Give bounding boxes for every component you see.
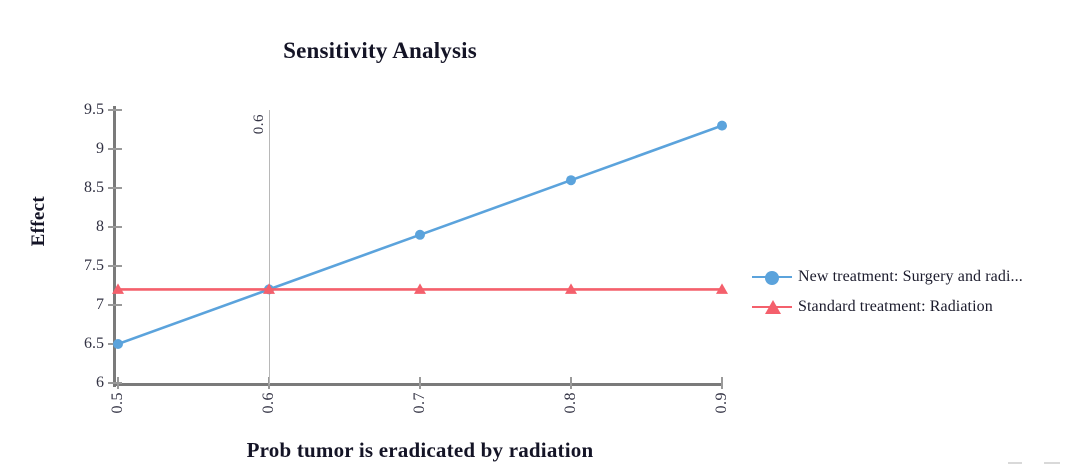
series-plot	[0, 0, 1080, 470]
x-tick-label: 0.5	[109, 392, 127, 414]
bottom-edge-artifact-right	[1044, 462, 1060, 464]
y-tick-label: 7	[64, 297, 104, 313]
y-tick-label: 8	[64, 219, 104, 235]
y-tick-mark	[108, 148, 122, 150]
x-axis-title: Prob tumor is eradicated by radiation	[118, 438, 722, 463]
chart-legend: New treatment: Surgery and radi... Stand…	[752, 262, 1072, 322]
x-tick-mark	[419, 377, 421, 389]
y-tick-label: 6.5	[64, 336, 104, 352]
x-tick-label: 0.9	[713, 392, 731, 414]
chart-title: Sensitivity Analysis	[0, 38, 760, 64]
series-standard-treatment	[112, 283, 728, 294]
data-point-circle	[717, 121, 727, 131]
data-point-circle	[566, 175, 576, 185]
legend-marker-triangle-icon	[752, 297, 792, 317]
y-tick-label: 7.5	[64, 258, 104, 274]
y-tick-label: 6	[64, 375, 104, 391]
series-new-treatment	[113, 121, 727, 349]
y-tick-mark	[108, 226, 122, 228]
y-axis-title: Effect	[28, 196, 50, 246]
legend-item-standard-treatment[interactable]: Standard treatment: Radiation	[752, 292, 1072, 322]
legend-label-new-treatment: New treatment: Surgery and radi...	[792, 268, 1023, 286]
x-tick-mark	[721, 377, 723, 389]
sensitivity-analysis-chart: Sensitivity Analysis 66.577.588.599.5 0.…	[0, 0, 1080, 470]
x-tick-label: 0.8	[562, 392, 580, 414]
x-tick-label: 0.7	[411, 392, 429, 414]
y-tick-mark	[108, 265, 122, 267]
y-tick-mark	[108, 382, 122, 384]
y-tick-mark	[108, 109, 122, 111]
data-point-circle	[415, 230, 425, 240]
data-point-triangle	[565, 283, 577, 294]
x-tick-label: 0.6	[260, 392, 278, 414]
reference-line	[269, 110, 270, 384]
y-tick-mark	[108, 343, 122, 345]
reference-line-label: 0.6	[251, 114, 268, 134]
y-tick-mark	[108, 187, 122, 189]
legend-item-new-treatment[interactable]: New treatment: Surgery and radi...	[752, 262, 1072, 292]
bottom-edge-artifact-left	[1008, 462, 1022, 464]
x-tick-mark	[117, 377, 119, 389]
y-tick-mark	[108, 304, 122, 306]
x-tick-mark	[570, 377, 572, 389]
data-point-triangle	[414, 283, 426, 294]
data-point-triangle	[716, 283, 728, 294]
y-tick-label: 8.5	[64, 180, 104, 196]
series-line	[118, 126, 722, 344]
y-tick-label: 9	[64, 141, 104, 157]
legend-marker-circle-icon	[752, 267, 792, 287]
y-tick-label: 9.5	[64, 102, 104, 118]
legend-label-standard-treatment: Standard treatment: Radiation	[792, 298, 993, 316]
